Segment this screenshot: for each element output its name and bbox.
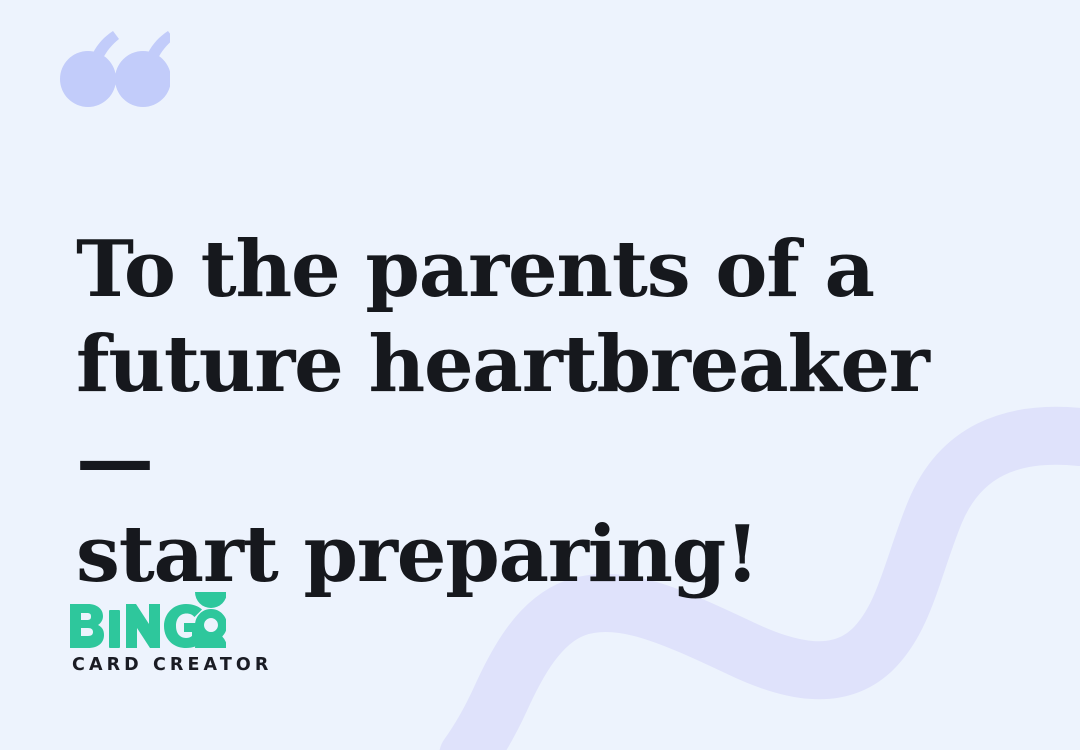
page-title: To the parents of a future heartbreaker—…	[76, 222, 956, 602]
brand-tagline: CARD CREATOR	[72, 657, 272, 675]
bingo-wordmark-icon	[68, 592, 226, 648]
quote-card: To the parents of a future heartbreaker—…	[0, 0, 1080, 750]
double-quote-open-icon	[60, 26, 170, 136]
brand-logo: CARD CREATOR	[68, 592, 272, 675]
